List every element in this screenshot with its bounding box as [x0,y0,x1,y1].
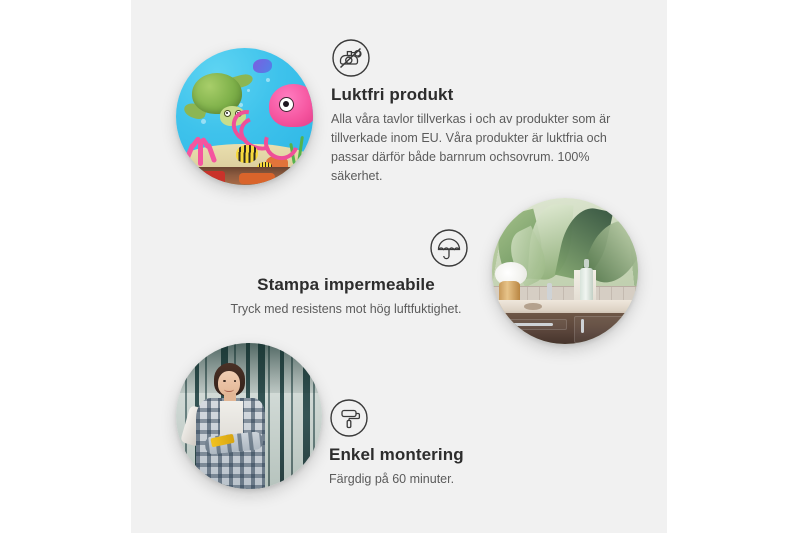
forest-mural-artwork [176,343,322,489]
feature-odorless: Luktfri produkt Alla våra tavlor tillver… [331,38,631,186]
coral [181,127,222,165]
cabinet-handle [512,323,553,326]
bottom-strip-accent [198,171,225,183]
forest-canopy [176,343,322,393]
bathroom-artwork [492,198,638,344]
turtle-eye [224,110,231,117]
paint-roller-icon [329,398,369,438]
umbrella-icon [429,228,469,268]
bubble-icon [239,103,243,107]
feature-easy-assembly: Enkel montering Färgdig på 60 minuter. [329,398,609,489]
feature-description: Tryck med resistens mot hög luftfuktighe… [215,300,477,319]
feature-image-waterproof [492,198,638,344]
vanity-cabinet [492,313,638,344]
feature-title: Stampa impermeabile [215,275,477,295]
feature-description: Alla våra tavlor tillverkas i och av pro… [331,110,631,186]
feature-title: Luktfri produkt [331,85,631,105]
bubble-icon [201,119,206,124]
feature-image-easy-assembly [176,343,322,489]
no-fragrance-icon [331,38,371,78]
blue-fish-icon [253,59,272,73]
feature-image-odorless [176,48,313,185]
bottom-strip-accent [239,173,275,184]
faucet [547,283,551,301]
underwater-artwork [176,48,313,185]
feature-description: Färgdig på 60 minuter. [329,470,609,489]
neck [224,393,236,402]
feature-title: Enkel montering [329,445,609,465]
cabinet-handle [581,319,584,333]
soap-dispenser [580,268,593,302]
infographic-canvas: Luktfri produkt Alla våra tavlor tillver… [0,0,800,533]
feature-waterproof: Stampa impermeabile Tryck med resistens … [215,228,477,319]
